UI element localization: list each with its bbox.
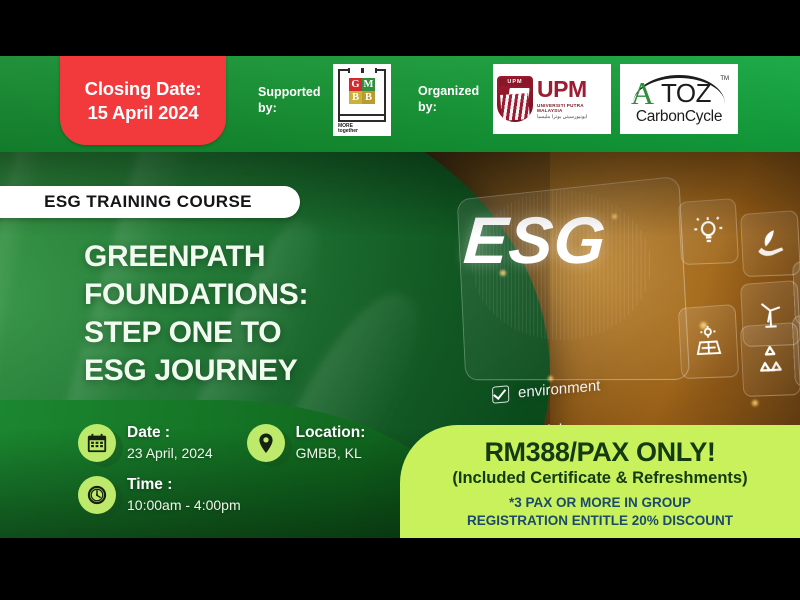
price-note-line2: REGISTRATION ENTITLE 20% DISCOUNT: [467, 512, 733, 530]
course-category-label: ESG TRAINING COURSE: [44, 192, 252, 212]
letterbox-top: [0, 0, 800, 56]
letterbox-bottom: [0, 538, 800, 600]
upm-logo: UPM UPM UNIVERSITI PUTRA MALAYSIA ايونيو…: [493, 64, 611, 134]
clock-icon: [78, 476, 116, 514]
gmbb-letter-g: G: [349, 78, 362, 91]
date-label: Date :: [127, 424, 213, 442]
atoz-subtitle: CarbonCycle: [636, 109, 722, 125]
atoz-carboncycle-logo: A TOZ TM CarbonCycle: [620, 64, 738, 134]
gmbb-tagline-light: together: [338, 129, 358, 134]
upm-crest-icon: UPM: [497, 76, 533, 122]
location-value: GMBB, KL: [296, 444, 366, 462]
closing-date-badge: Closing Date: 15 April 2024: [60, 56, 226, 145]
closing-date-line1: Closing Date:: [85, 77, 202, 101]
map-pin-icon: [247, 424, 285, 462]
esg-training-course-poster: ESG environment social governance: [0, 0, 800, 600]
atoz-letter-a: A: [631, 77, 654, 109]
headline-line-2: FOUNDATIONS:: [84, 276, 484, 314]
trademark-icon: TM: [720, 76, 729, 82]
headline-line-3: STEP ONE TO: [84, 314, 484, 352]
course-category-pill: ESG TRAINING COURSE: [0, 186, 300, 218]
date-value: 23 April, 2024: [127, 444, 213, 462]
price-inclusions: (Included Certificate & Refreshments): [452, 468, 747, 489]
organized-by-group: Organized by: UPM UPM UNIVERSITI PUTRA M…: [418, 64, 738, 134]
organized-by-label: Organized by:: [418, 83, 484, 116]
atoz-letters-toz: TOZ: [661, 80, 711, 106]
calendar-icon: [78, 424, 116, 462]
supported-by-group: Supported by: G M B B MORE together: [258, 64, 391, 136]
upm-jawi-text: ايونيورسيتي بوترا مليسيا: [537, 114, 587, 120]
gmbb-letter-b2: B: [362, 91, 375, 104]
time-value: 10:00am - 4:00pm: [127, 496, 241, 514]
closing-date-line2: 15 April 2024: [88, 101, 199, 125]
page-title: GREENPATH FOUNDATIONS: STEP ONE TO ESG J…: [84, 238, 484, 390]
location-label: Location:: [296, 424, 366, 442]
supported-by-label: Supported by:: [258, 84, 324, 117]
upm-subtitle: UNIVERSITI PUTRA MALAYSIA: [537, 103, 607, 113]
poster-content: ESG environment social governance: [0, 56, 800, 538]
detail-date: Date : 23 April, 2024: [78, 424, 213, 462]
price-badge: RM388/PAX ONLY! (Included Certificate & …: [400, 425, 800, 538]
gmbb-letter-m: M: [362, 78, 375, 91]
upm-wordmark: UPM: [537, 78, 587, 101]
price-note-line1: *3 PAX OR MORE IN GROUP: [467, 494, 733, 512]
gmbb-letter-b1: B: [349, 91, 362, 104]
time-label: Time :: [127, 476, 241, 494]
upm-crest-text: UPM: [499, 78, 531, 86]
headline-line-1: GREENPATH: [84, 238, 484, 276]
headline-line-4: ESG JOURNEY: [84, 352, 484, 390]
detail-location: Location: GMBB, KL: [247, 424, 366, 462]
detail-time: Time : 10:00am - 4:00pm: [78, 476, 365, 514]
event-details: Date : 23 April, 2024 Location: GMBB, KL: [78, 424, 365, 528]
price-main: RM388/PAX ONLY!: [484, 438, 715, 468]
gmbb-logo: G M B B MORE together: [333, 64, 391, 136]
